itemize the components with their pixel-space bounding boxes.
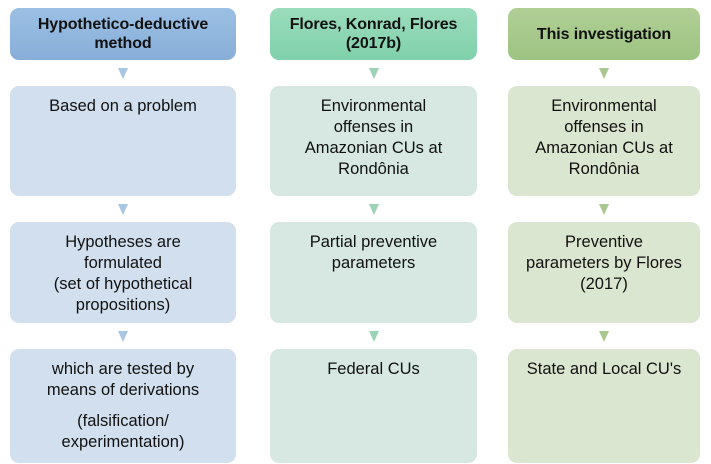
node-flores-2017b-step-3: Federal CUs xyxy=(270,349,477,463)
column-header-this-investigation: This investigation xyxy=(508,8,700,60)
flowchart-column-flores-konrad-flores-2017b: Flores, Konrad, Flores (2017b) Environme… xyxy=(270,0,477,464)
connector-step1-to-step2 xyxy=(270,196,477,222)
node-flores-2017b-step-2: Partial preventive parameters xyxy=(270,222,477,323)
connector-step1-to-step2 xyxy=(10,196,236,222)
down-arrow-icon xyxy=(369,331,379,342)
connector-step1-to-step2 xyxy=(508,196,700,222)
down-arrow-icon xyxy=(118,204,128,215)
node-hypothetico-deductive-step-2: Hypotheses are formulated (set of hypoth… xyxy=(10,222,236,323)
connector-step2-to-step3 xyxy=(508,323,700,349)
down-arrow-icon xyxy=(118,68,128,79)
down-arrow-icon xyxy=(118,331,128,342)
column-header-flores-konrad-flores-2017b: Flores, Konrad, Flores (2017b) xyxy=(270,8,477,60)
down-arrow-icon xyxy=(369,204,379,215)
node-flores-2017b-step-1: Environmental offenses in Amazonian CUs … xyxy=(270,86,477,196)
connector-step2-to-step3 xyxy=(10,323,236,349)
node-this-investigation-step-3: State and Local CU's xyxy=(508,349,700,463)
down-arrow-icon xyxy=(599,204,609,215)
connector-step2-to-step3 xyxy=(270,323,477,349)
node-hypothetico-deductive-step-1: Based on a problem xyxy=(10,86,236,196)
flowchart-column-this-investigation: This investigation Environmental offense… xyxy=(508,0,700,464)
node-hypothetico-deductive-step-3: which are tested by means of derivations… xyxy=(10,349,236,463)
node-this-investigation-step-2: Preventive parameters by Flores (2017) xyxy=(508,222,700,323)
connector-header-to-step1 xyxy=(10,60,236,86)
flowchart-column-hypothetico-deductive: Hypothetico-deductive method Based on a … xyxy=(10,0,236,464)
comparison-flowchart: Hypothetico-deductive method Based on a … xyxy=(0,0,711,464)
down-arrow-icon xyxy=(599,68,609,79)
down-arrow-icon xyxy=(369,68,379,79)
node-this-investigation-step-1: Environmental offenses in Amazonian CUs … xyxy=(508,86,700,196)
connector-header-to-step1 xyxy=(508,60,700,86)
column-header-hypothetico-deductive: Hypothetico-deductive method xyxy=(10,8,236,60)
connector-header-to-step1 xyxy=(270,60,477,86)
down-arrow-icon xyxy=(599,331,609,342)
